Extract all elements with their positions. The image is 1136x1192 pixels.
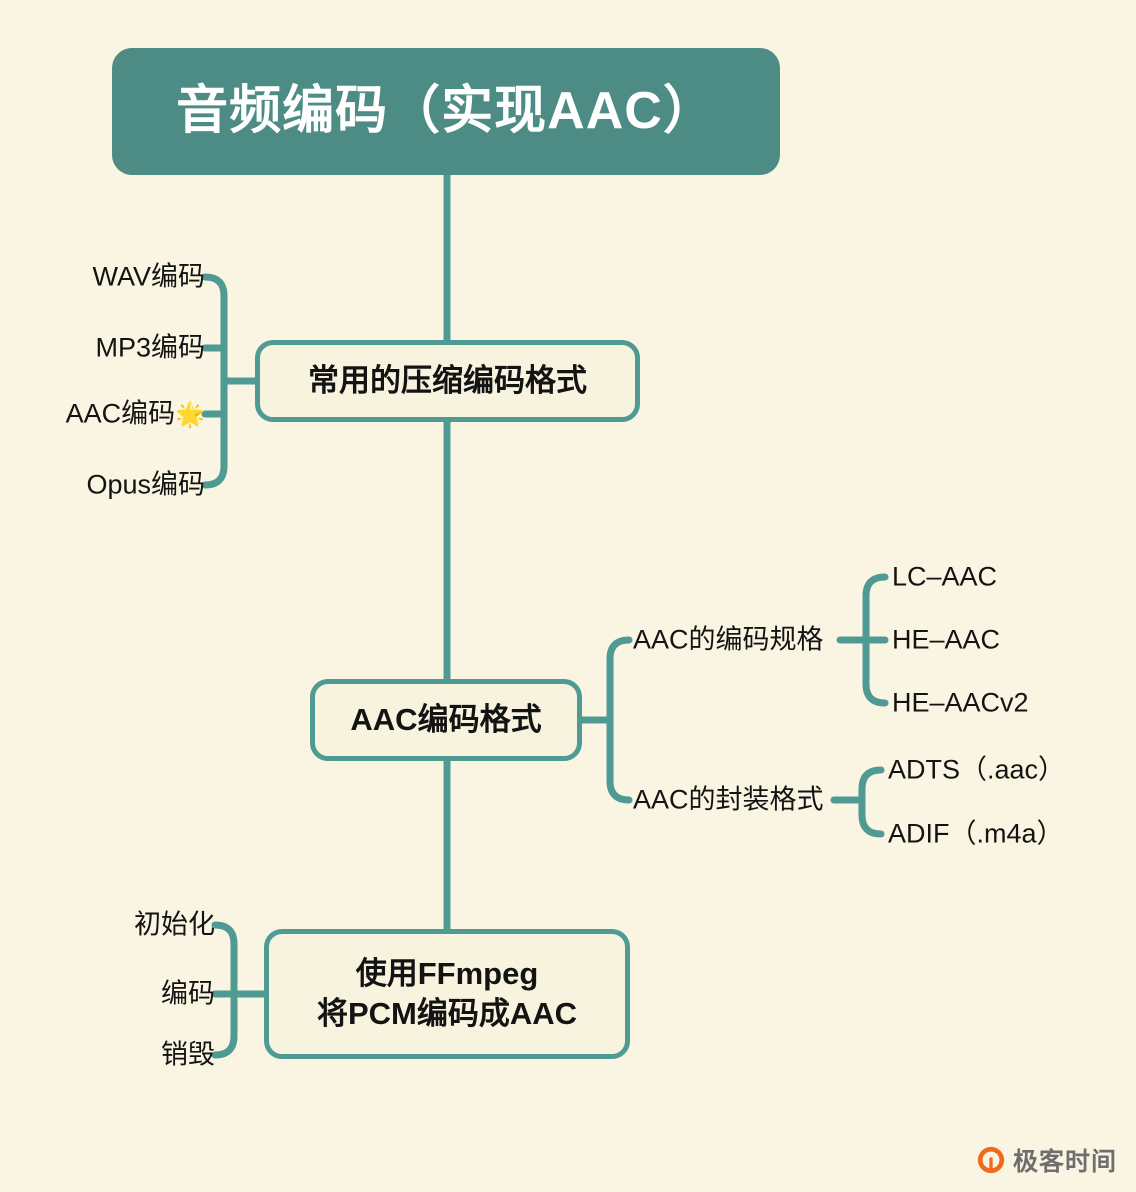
leaf-adif[interactable]: ADIF（.m4a） [888, 821, 1064, 848]
root-node[interactable]: 音频编码（实现AAC） [112, 48, 780, 175]
branch-node-ffmpeg-label: 使用FFmpeg 将PCM编码成AAC [317, 954, 577, 1033]
mindmap-canvas: 音频编码（实现AAC） 常用的压缩编码格式 WAV编码 MP3编码 AAC编码🌟… [0, 0, 1136, 1192]
leaf-opus[interactable]: Opus编码 [86, 472, 205, 499]
leaf-wav-label: WAV编码 [93, 262, 206, 292]
branch-node-compress[interactable]: 常用的压缩编码格式 [255, 340, 640, 422]
root-node-label: 音频编码（实现AAC） [176, 83, 716, 140]
leaf-adts[interactable]: ADTS（.aac） [888, 757, 1065, 784]
subbranch-aac-package-label: AAC的封装格式 [633, 785, 824, 815]
leaf-he-aac[interactable]: HE–AAC [892, 627, 1000, 654]
leaf-aac[interactable]: AAC编码🌟 [66, 401, 205, 428]
leaf-wav[interactable]: WAV编码 [93, 264, 206, 291]
leaf-he-aac-label: HE–AAC [892, 625, 1000, 655]
subbranch-aac-spec-label: AAC的编码规格 [633, 625, 824, 655]
leaf-destroy[interactable]: 销毁 [161, 1042, 215, 1069]
spine-ffmpeg [215, 925, 234, 1055]
spine-spec [866, 577, 885, 703]
branch-node-ffmpeg-label-line2: 将PCM编码成AAC [317, 994, 577, 1034]
leaf-mp3[interactable]: MP3编码 [95, 335, 205, 362]
leaf-adts-label: ADTS（.aac） [888, 755, 1065, 785]
spine-compress [205, 277, 224, 485]
spine-aacfmt [610, 640, 629, 800]
star-icon: 🌟 [175, 402, 205, 429]
branch-node-aac-format-label: AAC编码格式 [350, 700, 541, 740]
leaf-he-aacv2-label: HE–AACv2 [892, 688, 1029, 718]
leaf-encode[interactable]: 编码 [161, 981, 215, 1008]
leaf-aac-label: AAC编码 [66, 399, 176, 429]
leaf-destroy-label: 销毁 [161, 1040, 215, 1070]
leaf-init-label: 初始化 [134, 910, 215, 940]
leaf-he-aacv2[interactable]: HE–AACv2 [892, 690, 1029, 717]
leaf-lc-aac-label: LC–AAC [892, 562, 997, 592]
leaf-lc-aac[interactable]: LC–AAC [892, 564, 997, 591]
watermark-label: 极客时间 [1013, 1142, 1117, 1178]
leaf-mp3-label: MP3编码 [95, 333, 205, 363]
subbranch-aac-package[interactable]: AAC的封装格式 [633, 787, 824, 814]
branch-node-ffmpeg[interactable]: 使用FFmpeg 将PCM编码成AAC [264, 929, 630, 1059]
leaf-init[interactable]: 初始化 [134, 912, 215, 939]
watermark: 极客时间 [976, 1142, 1117, 1178]
branch-node-compress-label: 常用的压缩编码格式 [308, 361, 587, 401]
branch-node-aac-format[interactable]: AAC编码格式 [310, 679, 582, 761]
leaf-encode-label: 编码 [161, 979, 215, 1009]
leaf-adif-label: ADIF（.m4a） [888, 819, 1064, 849]
geektime-logo-icon [976, 1145, 1006, 1175]
branch-node-ffmpeg-label-line1: 使用FFmpeg [317, 954, 577, 994]
subbranch-aac-spec[interactable]: AAC的编码规格 [633, 627, 824, 654]
leaf-opus-label: Opus编码 [86, 470, 205, 500]
spine-pack [862, 770, 881, 834]
